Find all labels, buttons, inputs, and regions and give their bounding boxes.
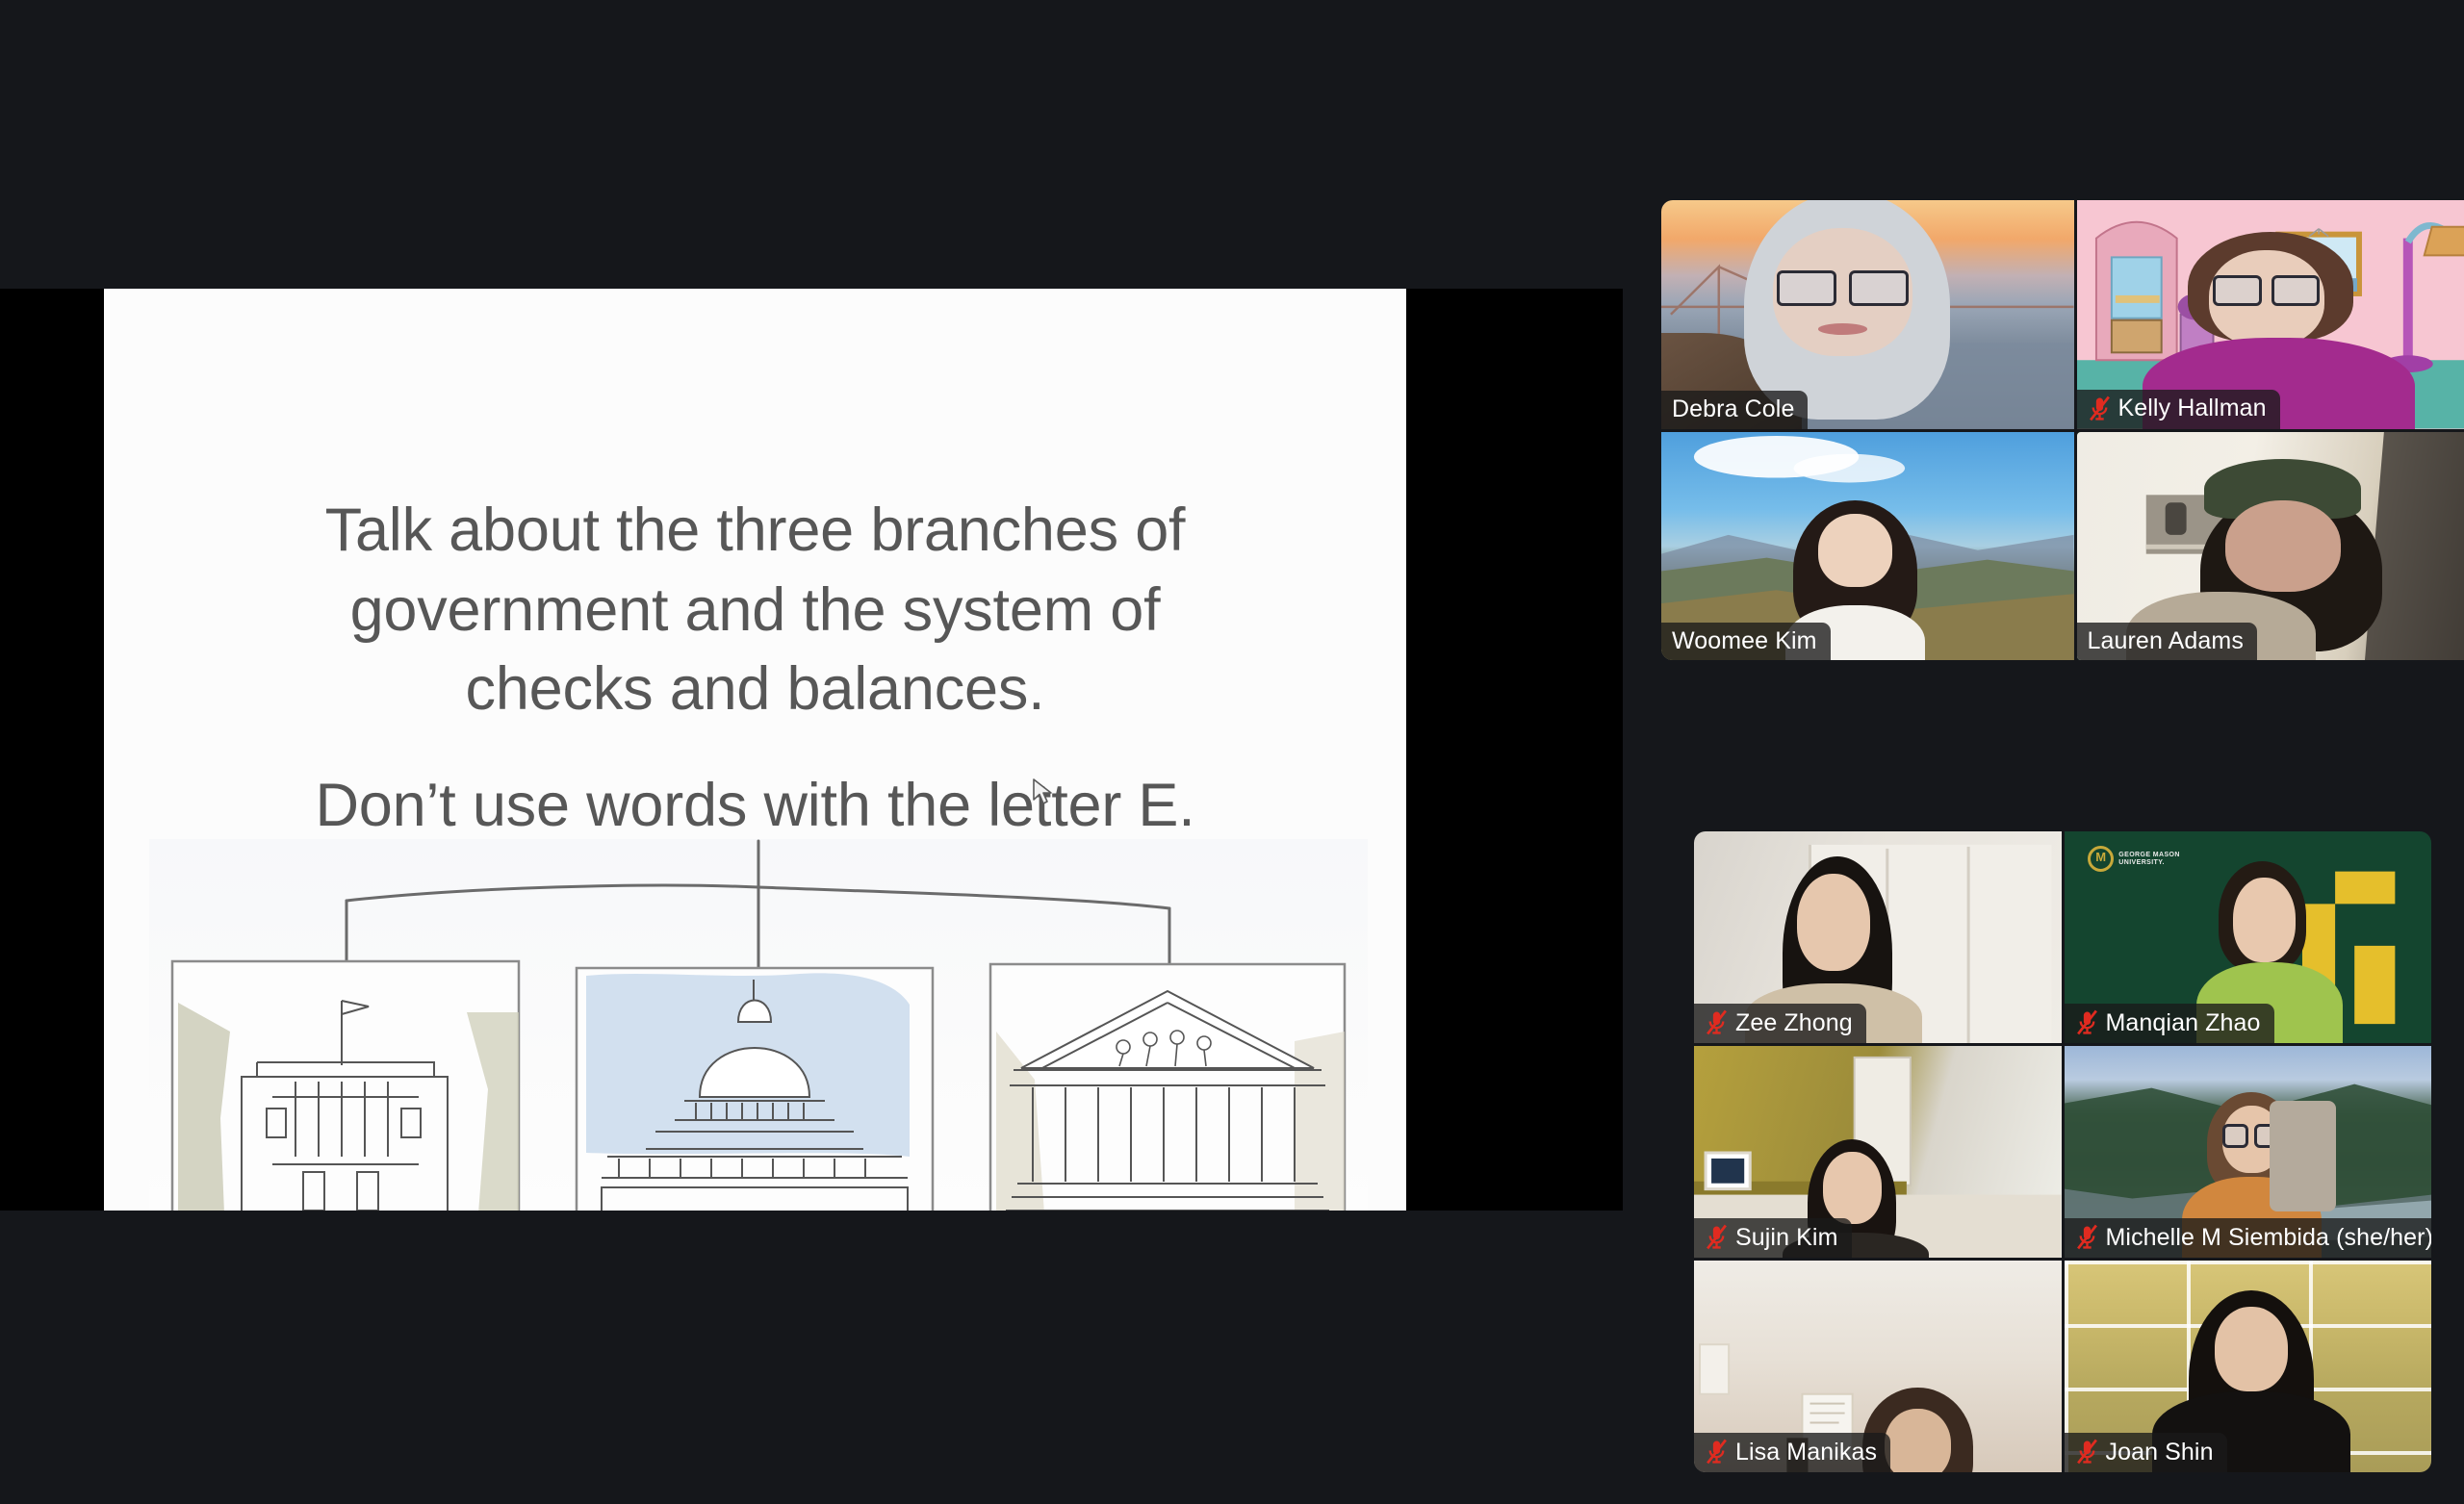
participant-name: Sujin Kim xyxy=(1735,1225,1838,1250)
video-tile-sujin-kim[interactable]: Sujin Kim xyxy=(1694,1046,2062,1258)
participant-name: Zee Zhong xyxy=(1735,1010,1853,1035)
participant-name-label: Sujin Kim xyxy=(1694,1218,1852,1258)
microphone-muted-icon xyxy=(2075,1009,2099,1036)
participant-name-label: Woomee Kim xyxy=(1661,623,1831,660)
participant-name-label: Zee Zhong xyxy=(1694,1004,1866,1043)
slide-line-4: Don’t use words with the letter E. xyxy=(104,766,1406,846)
participant-name: Manqian Zhao xyxy=(2106,1010,2261,1035)
video-tile-woomee-kim[interactable]: Woomee Kim xyxy=(1661,432,2074,661)
video-tile-michelle-siembida[interactable]: Michelle M Siembida (she/her) xyxy=(2065,1046,2432,1258)
participant-grid-top: Debra Cole xyxy=(1661,200,2464,660)
microphone-muted-icon xyxy=(2075,1439,2099,1466)
participant-name: Kelly Hallman xyxy=(2118,395,2267,421)
shared-screen-region[interactable]: Talk about the three branches of governm… xyxy=(0,289,1623,1211)
participant-name-label: Lisa Manikas xyxy=(1694,1433,1890,1472)
shared-presentation-slide[interactable]: Talk about the three branches of governm… xyxy=(104,289,1406,1211)
participant-name: Lauren Adams xyxy=(2088,628,2244,653)
video-tile-kelly-hallman[interactable]: Kelly Hallman xyxy=(2077,200,2464,429)
video-tile-joan-shin[interactable]: Joan Shin xyxy=(2065,1261,2432,1472)
microphone-muted-icon xyxy=(1705,1224,1729,1251)
video-tile-zee-zhong[interactable]: Zee Zhong xyxy=(1694,831,2062,1043)
slide-text-block: Talk about the three branches of governm… xyxy=(104,491,1406,845)
participant-name-label: Joan Shin xyxy=(2065,1433,2227,1472)
microphone-muted-icon xyxy=(2088,395,2112,422)
participant-name: Joan Shin xyxy=(2106,1440,2214,1465)
video-tile-manqian-zhao[interactable]: M GEORGE MASON UNIVERSITY. Manqian Zhao xyxy=(2065,831,2432,1043)
video-tile-lauren-adams[interactable]: Lauren Adams xyxy=(2077,432,2464,661)
participant-name-label: Manqian Zhao xyxy=(2065,1004,2274,1043)
video-tile-debra-cole[interactable]: Debra Cole xyxy=(1661,200,2074,429)
participant-name: Woomee Kim xyxy=(1672,628,1817,653)
gmu-logo-line1: GEORGE MASON xyxy=(2118,852,2180,859)
participant-name: Debra Cole xyxy=(1672,396,1794,421)
slide-line-2: government and the system of xyxy=(104,571,1406,650)
video-tile-lisa-manikas[interactable]: Lisa Manikas xyxy=(1694,1261,2062,1472)
gmu-logo: M GEORGE MASON UNIVERSITY. xyxy=(2088,846,2180,872)
microphone-muted-icon xyxy=(2075,1224,2099,1251)
participant-name-label: Michelle M Siembida (she/her) xyxy=(2065,1218,2432,1258)
slide-line-3: checks and balances. xyxy=(104,650,1406,729)
slide-line-1: Talk about the three branches of xyxy=(104,491,1406,571)
gmu-logo-line2: UNIVERSITY. xyxy=(2118,859,2180,867)
participant-name: Michelle M Siembida (she/her) xyxy=(2106,1225,2432,1250)
participant-name-label: Lauren Adams xyxy=(2077,623,2257,660)
participant-name-label: Debra Cole xyxy=(1661,391,1808,428)
participant-grid-bottom: Zee Zhong M GEORGE MASON UNIVERSITY. xyxy=(1694,831,2431,1472)
participant-name: Lisa Manikas xyxy=(1735,1440,1877,1465)
participant-name-label: Kelly Hallman xyxy=(2077,390,2280,429)
microphone-muted-icon xyxy=(1705,1439,1729,1466)
three-branches-illustration xyxy=(149,839,1368,1211)
zoom-meeting-window: Talk about the three branches of governm… xyxy=(0,0,2464,1504)
microphone-muted-icon xyxy=(1705,1009,1729,1036)
